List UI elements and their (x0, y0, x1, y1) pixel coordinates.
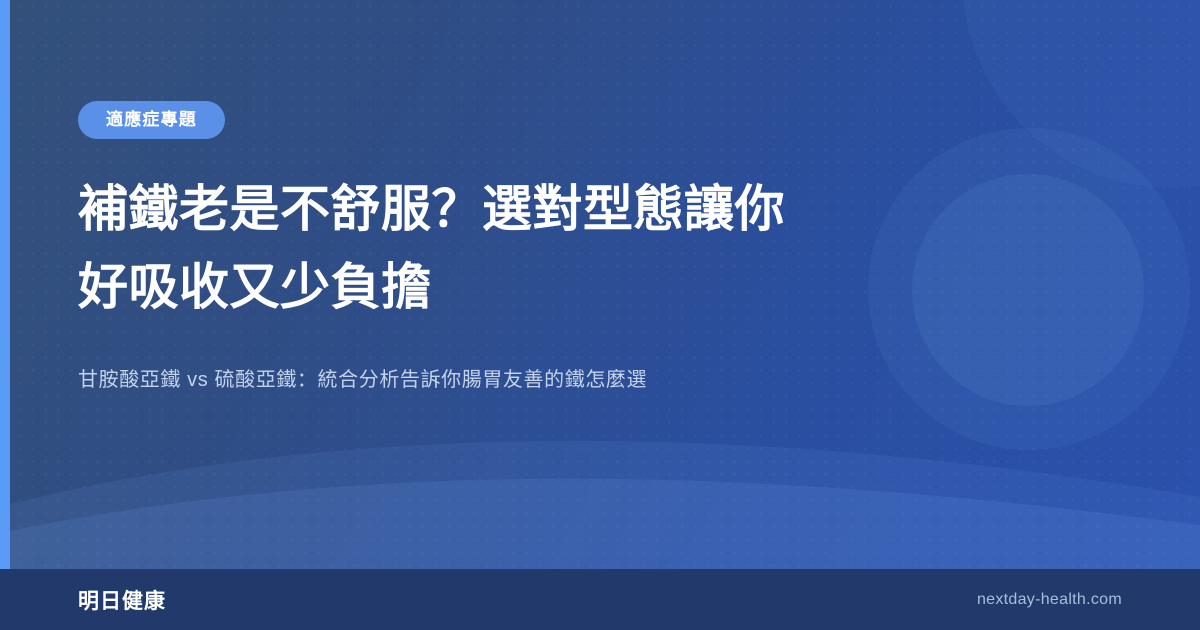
card-footer: 明日健康 nextday-health.com (0, 569, 1200, 630)
site-url[interactable]: nextday-health.com (977, 591, 1122, 609)
page-title: 補鐵老是不舒服？選對型態讓你 好吸收又少負擔 (78, 170, 918, 326)
social-share-card: 適應症專題 補鐵老是不舒服？選對型態讓你 好吸收又少負擔 甘胺酸亞鐵 vs 硫酸… (0, 0, 1200, 630)
page-subtitle: 甘胺酸亞鐵 vs 硫酸亞鐵：統合分析告訴你腸胃友善的鐵怎麼選 (78, 364, 978, 396)
category-badge[interactable]: 適應症專題 (78, 101, 225, 139)
decorative-wave-front-icon (0, 459, 1200, 569)
left-accent-bar (0, 0, 10, 569)
brand-name: 明日健康 (78, 585, 166, 615)
decorative-wave-back-icon (0, 419, 1200, 569)
card-content: 適應症專題 補鐵老是不舒服？選對型態讓你 好吸收又少負擔 甘胺酸亞鐵 vs 硫酸… (78, 101, 1122, 396)
